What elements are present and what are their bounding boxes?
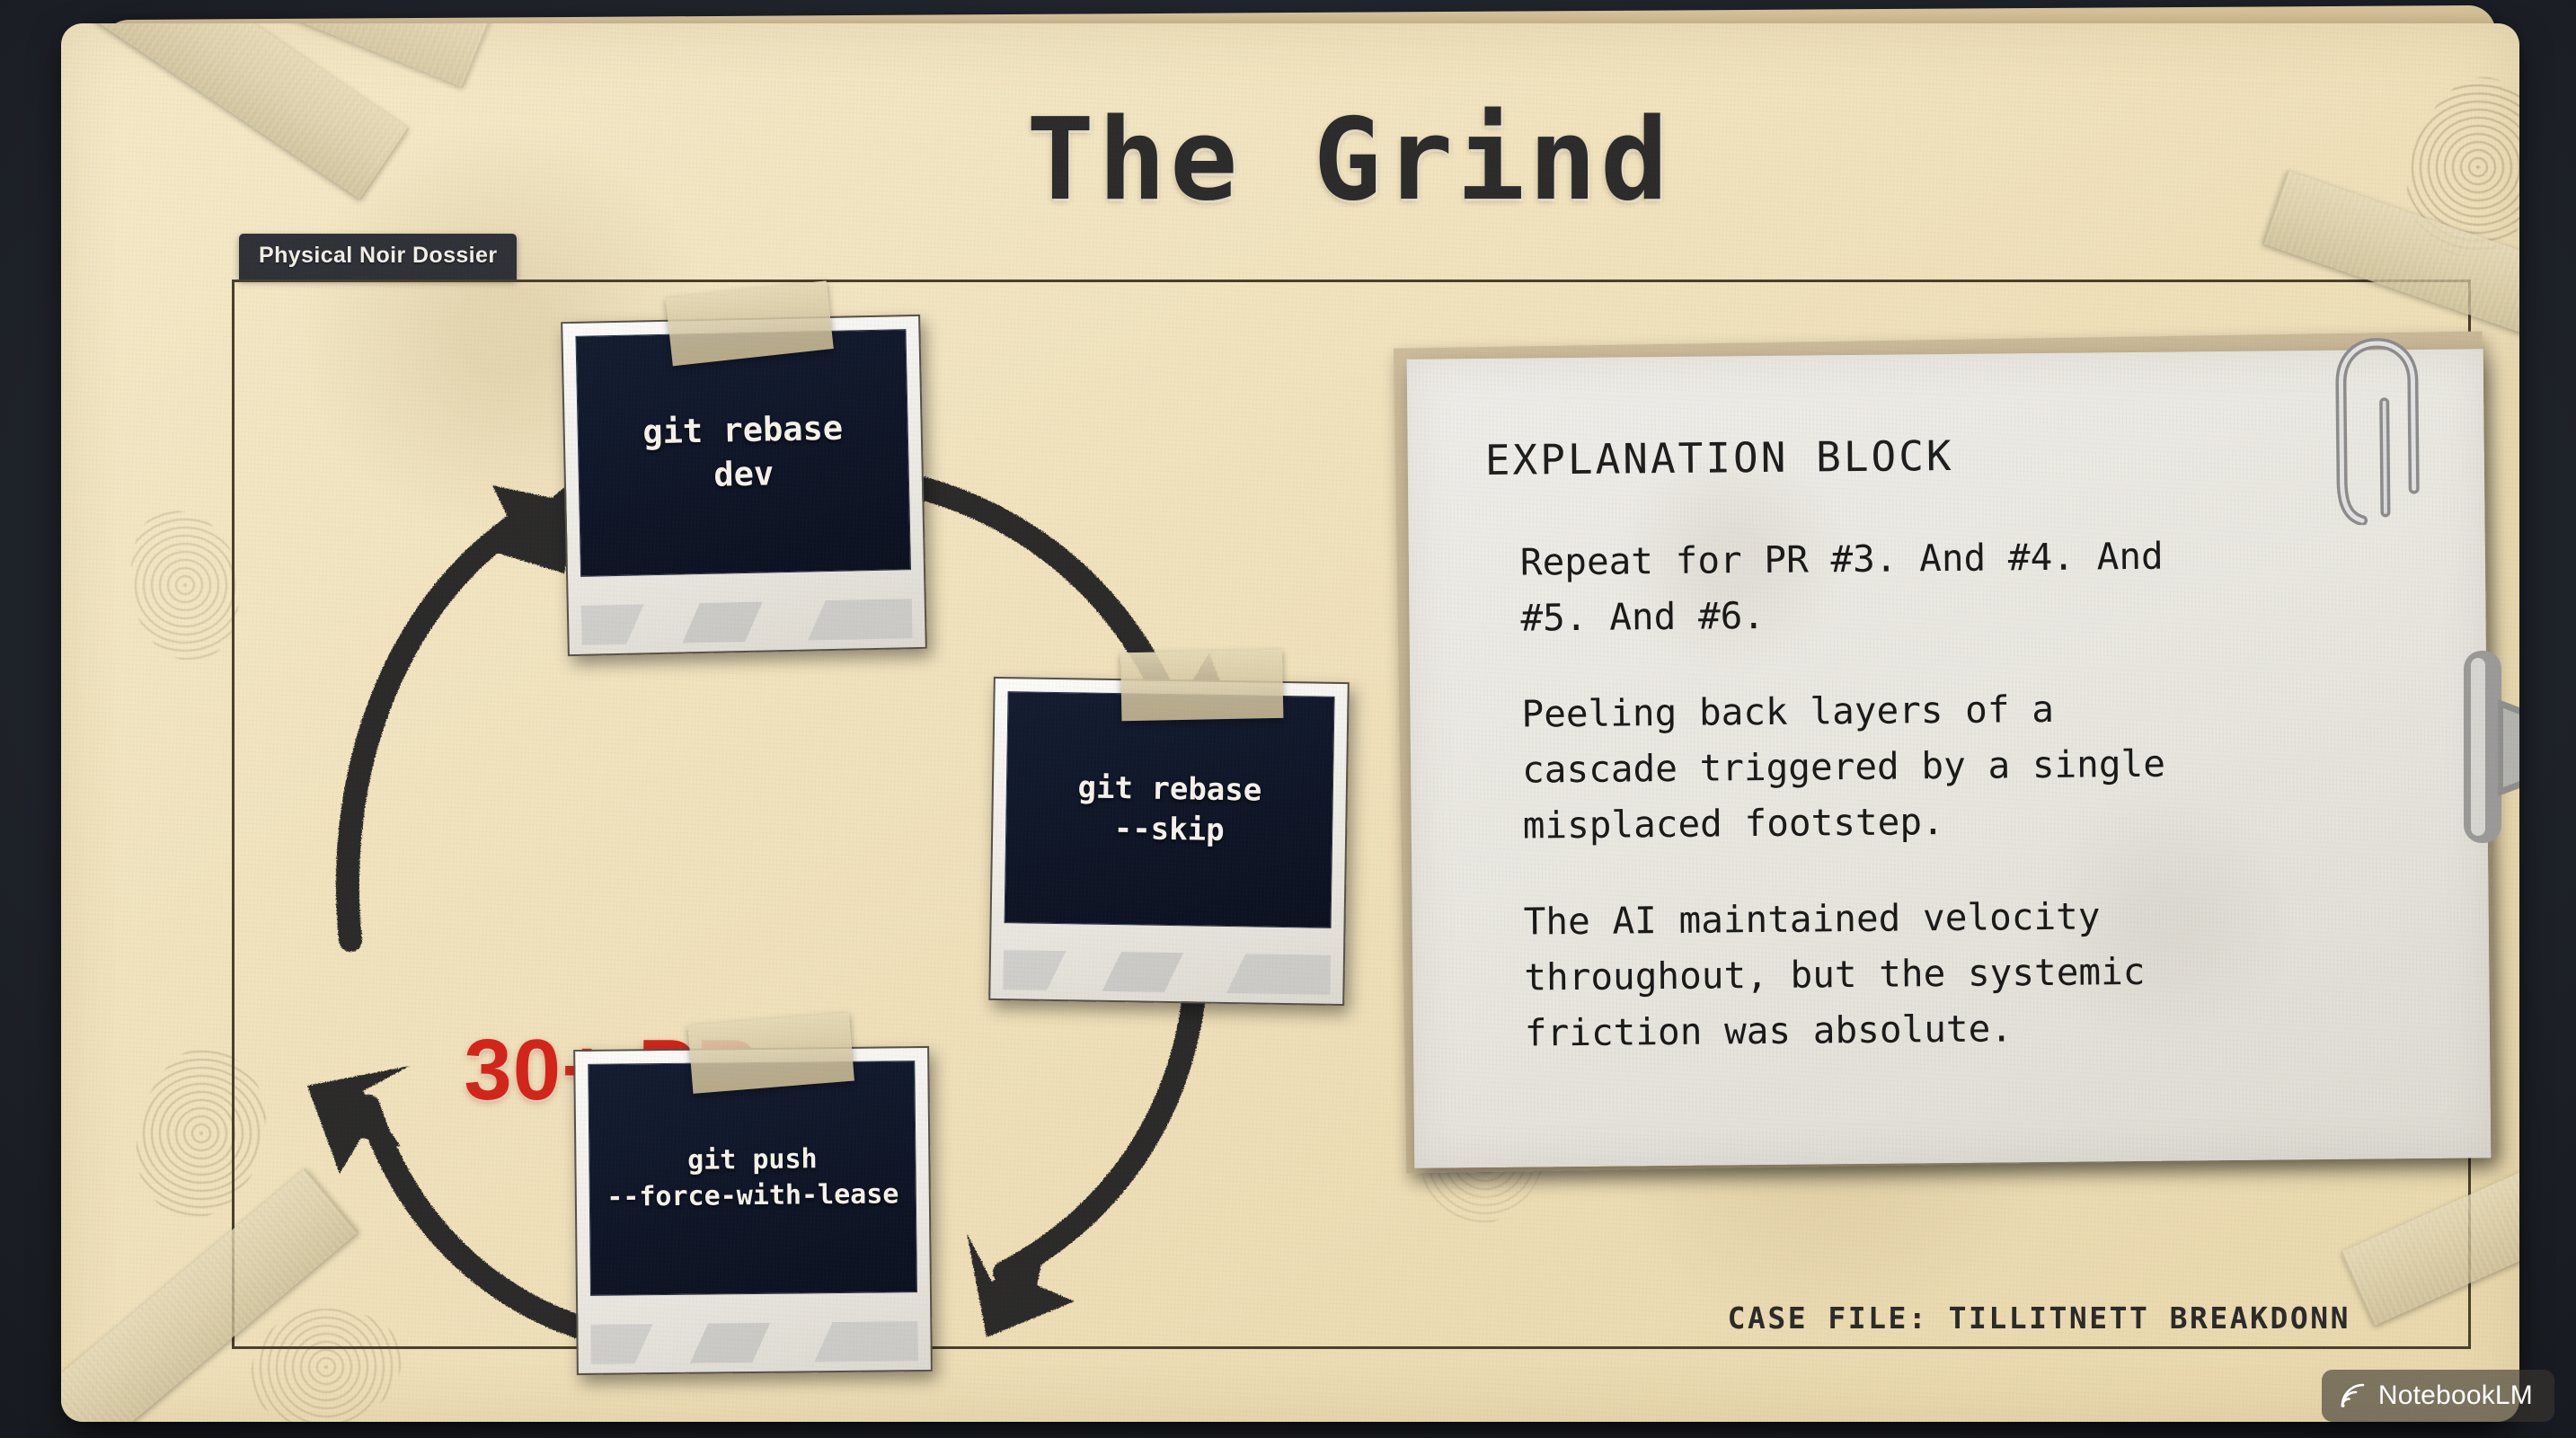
explanation-paragraph: The AI maintained velocity throughout, b…	[1523, 884, 2427, 1061]
notebooklm-label: NotebookLM	[2378, 1380, 2533, 1411]
desk-surface: The Grind Physical Noir Dossier	[0, 0, 2576, 1438]
polaroid-card-step-1[interactable]: git rebase dev	[561, 315, 927, 656]
explanation-note-card[interactable]: EXPLANATION BLOCK Repeat for PR #3. And …	[1407, 349, 2492, 1167]
paperclip-icon	[2333, 336, 2421, 526]
case-file-footer: CASE FILE: TILLITNETT BREAKDONN	[1728, 1300, 2350, 1336]
notebooklm-watermark: NotebookLM	[2322, 1370, 2554, 1422]
explanation-paragraph: Repeat for PR #3. And #4. And #5. And #6…	[1520, 526, 2423, 646]
polaroid-card-step-2[interactable]: git rebase --skip	[988, 677, 1350, 1006]
terminal-command-step-1: git rebase dev	[575, 329, 911, 577]
tape-strip-icon	[1120, 650, 1283, 721]
dossier-folder: The Grind Physical Noir Dossier	[61, 23, 2519, 1422]
terminal-command-step-2: git rebase --skip	[1005, 691, 1335, 928]
polaroid-card-step-3[interactable]: git push --force-with-lease	[573, 1046, 933, 1375]
notebooklm-fan-icon	[2338, 1380, 2368, 1411]
page-title: The Grind	[61, 93, 2519, 226]
dossier-tab-label: Physical Noir Dossier	[239, 234, 517, 280]
binder-clip-icon	[2451, 644, 2519, 850]
terminal-command-step-3: git push --force-with-lease	[588, 1061, 917, 1296]
explanation-paragraph: Peeling back layers of a cascade trigger…	[1521, 678, 2425, 855]
tape-strip-icon	[687, 1013, 854, 1094]
explanation-heading: EXPLANATION BLOCK	[1485, 427, 2421, 484]
